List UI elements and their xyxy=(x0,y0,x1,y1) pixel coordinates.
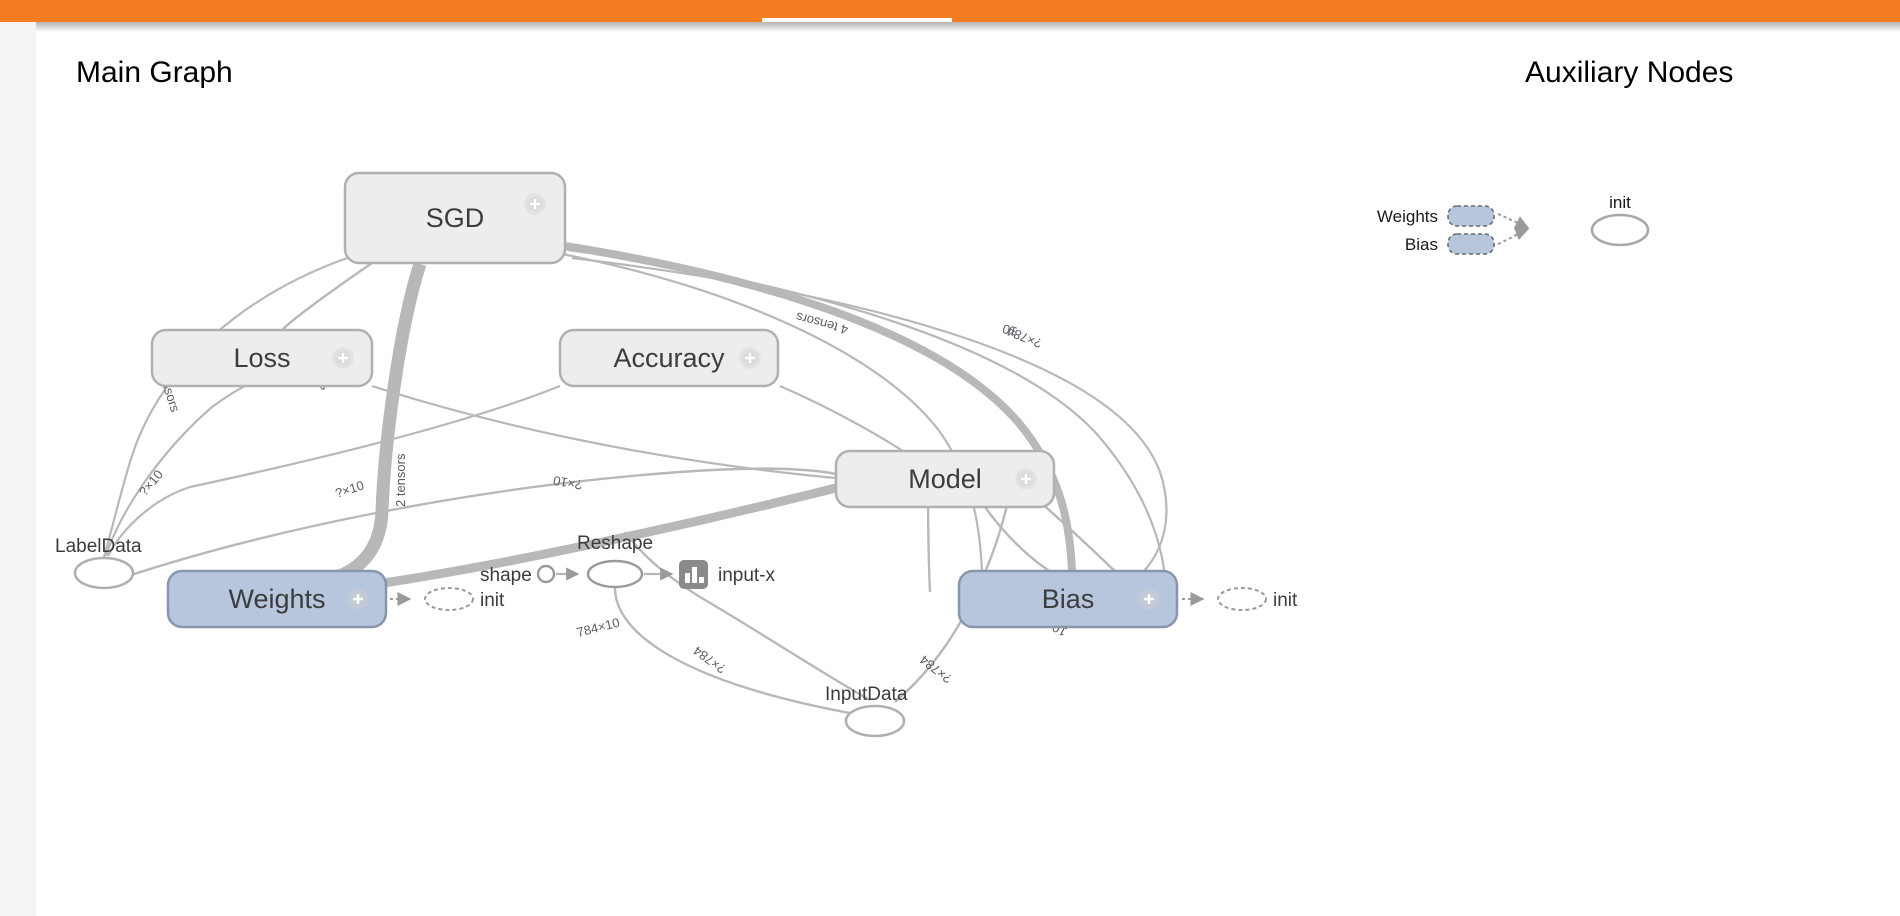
edge-weights-init: init xyxy=(390,588,505,611)
node-labeldata-shape[interactable] xyxy=(75,558,133,588)
edge-sgd-weights xyxy=(300,264,420,585)
node-inputdata-shape[interactable] xyxy=(846,706,904,736)
node-labeldata-label: LabelData xyxy=(55,536,142,557)
edge-reshape-stem xyxy=(615,588,855,714)
edge-label: 2 tensors xyxy=(393,453,408,507)
top-bar-shadow xyxy=(0,22,1900,32)
edge-inputdata-model xyxy=(625,532,870,700)
node-input-x-label: input-x xyxy=(718,565,776,586)
tensorboard-graph-page: Main Graph Auxiliary Nodes xyxy=(0,0,1900,916)
aux-node-bias[interactable] xyxy=(1448,234,1494,254)
auxiliary-nodes-panel[interactable]: Weights Bias init xyxy=(1377,193,1648,254)
node-init-weights-label: init xyxy=(480,590,505,611)
node-model-label: Model xyxy=(908,464,982,494)
node-shape-port[interactable] xyxy=(538,566,554,582)
aux-dotted-arrow-bias xyxy=(1498,229,1528,244)
edge-label: ?×784 xyxy=(1005,324,1044,352)
node-loss-label: Loss xyxy=(233,343,290,373)
edge-label: ?×784 xyxy=(690,643,728,677)
bar-1 xyxy=(685,573,690,583)
edge-sgd-right-1 xyxy=(562,254,982,570)
edge-label: ?×10 xyxy=(136,467,166,499)
node-accuracy[interactable]: Accuracy xyxy=(560,330,778,386)
node-model[interactable]: Model xyxy=(836,451,1054,507)
aux-node-init-label: init xyxy=(1609,193,1631,212)
node-labeldata[interactable]: LabelData xyxy=(55,536,142,588)
aux-item-label-weights: Weights xyxy=(1377,207,1438,226)
edge-loss-cross xyxy=(372,386,845,479)
node-sgd-label: SGD xyxy=(426,203,485,233)
aux-node-weights[interactable] xyxy=(1448,206,1494,226)
node-loss[interactable]: Loss xyxy=(152,330,372,386)
node-init-weights-shape[interactable] xyxy=(425,588,473,610)
edge-sgd-bias-arc xyxy=(572,258,1166,587)
node-weights-label: Weights xyxy=(228,584,325,614)
bar-chart-icon[interactable] xyxy=(679,560,708,589)
node-sgd[interactable]: SGD xyxy=(345,173,565,263)
edge-sgd-labeldata xyxy=(104,257,350,557)
node-init-bias-label: init xyxy=(1273,590,1298,611)
node-reshape-label: Reshape xyxy=(577,533,653,554)
node-reshape-shape[interactable] xyxy=(588,561,642,587)
bar-2 xyxy=(692,567,697,583)
edge-sgd-right-2 xyxy=(568,250,1166,592)
edge-label: 784×10 xyxy=(575,615,621,640)
edge-sgd-loss xyxy=(282,263,372,330)
edge-label: ?×10 xyxy=(333,478,365,501)
edge-model-bias-2 xyxy=(1040,502,1118,574)
bar-3 xyxy=(699,577,704,583)
node-bias-label: Bias xyxy=(1042,584,1095,614)
edge-bias-init: init xyxy=(1182,588,1298,611)
node-accuracy-label: Accuracy xyxy=(613,343,725,373)
node-init-bias-shape[interactable] xyxy=(1218,588,1266,610)
edge-accuracy-cross xyxy=(108,386,560,556)
node-bias[interactable]: Bias xyxy=(959,571,1177,627)
app-top-bar xyxy=(0,0,1900,22)
node-shape-label: shape xyxy=(480,565,532,586)
graph-canvas[interactable]: 2 tensors 5 tensors 4 tensors 2 tensors … xyxy=(0,32,1900,916)
aux-dotted-arrow-weights xyxy=(1498,214,1528,228)
node-inputdata-label: InputData xyxy=(825,684,908,705)
aux-node-init-shape[interactable] xyxy=(1592,215,1648,245)
edge-label: ?×10 xyxy=(552,473,583,493)
active-tab-indicator[interactable] xyxy=(762,18,952,22)
node-weights[interactable]: Weights xyxy=(168,571,386,627)
aux-item-label-bias: Bias xyxy=(1405,235,1438,254)
